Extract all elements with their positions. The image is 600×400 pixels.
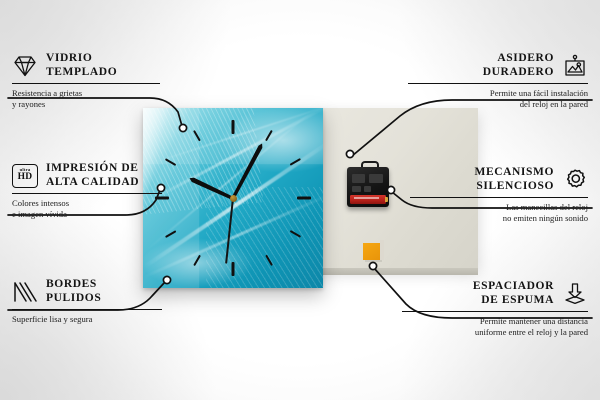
callout-title-line2: PULIDOS [46, 292, 101, 304]
callout-divider [12, 83, 160, 84]
callout-desc-line1: Resistencia a grietas [12, 88, 82, 98]
hd-badge-bottom-text: HD [18, 173, 33, 183]
callout-title-line2: DE ESPUMA [481, 294, 554, 306]
hanging-frame-icon [562, 53, 588, 79]
callout-desc-line2: e imagen vívida [12, 209, 67, 219]
callout-desc-line1: Permite mantener una distancia [480, 316, 588, 326]
callout-desc-line2: y rayones [12, 99, 45, 109]
callout-divider [12, 309, 162, 310]
callout-desc-line2: del reloj en la pared [520, 99, 588, 109]
foam-spacer-arrow-icon [562, 281, 588, 307]
connector-endpoint [163, 276, 170, 283]
callout-desc-line2: uniforme entre el reloj y la pared [475, 327, 588, 337]
gear-icon [562, 167, 588, 193]
callout-title-line1: ASIDERO [497, 52, 554, 64]
callout-divider [12, 193, 162, 194]
connector-endpoint [387, 186, 394, 193]
callout-title-line1: IMPRESIÓN DE [46, 162, 139, 174]
callout-divider [410, 197, 588, 198]
callout-title-line1: ESPACIADOR [473, 280, 554, 292]
callout-espaciador-de-espuma[interactable]: ESPACIADOR DE ESPUMA Permite mantener un… [402, 280, 588, 338]
diamond-icon [12, 53, 38, 79]
callout-desc-line1: Las manecillas del reloj [506, 202, 588, 212]
callout-desc-line1: Colores intensos [12, 198, 69, 208]
connector-endpoint [369, 262, 376, 269]
callout-desc-line1: Permite una fácil instalación [490, 88, 588, 98]
callout-title-line2: TEMPLADO [46, 66, 117, 78]
callout-title-line2: DURADERO [483, 66, 554, 78]
callout-vidrio-templado[interactable]: VIDRIO TEMPLADO Resistencia a grietas y … [12, 52, 160, 110]
callout-impresion-alta-calidad[interactable]: ultra HD IMPRESIÓN DE ALTA CALIDAD Color… [12, 162, 162, 220]
callout-desc-line1: Superficie lisa y segura [12, 314, 92, 324]
callout-title-line2: ALTA CALIDAD [46, 176, 139, 188]
callout-mecanismo-silencioso[interactable]: MECANISMO SILENCIOSO Las manecillas del … [410, 166, 588, 224]
callout-bordes-pulidos[interactable]: BORDES PULIDOS Superficie lisa y segura [12, 278, 162, 325]
connector-endpoint [179, 124, 186, 131]
callout-desc-line2: no emiten ningún sonido [503, 213, 588, 223]
connector-endpoint [346, 150, 353, 157]
callout-title-line1: BORDES [46, 278, 97, 290]
callout-divider [402, 311, 588, 312]
infographic-canvas: VIDRIO TEMPLADO Resistencia a grietas y … [0, 0, 600, 400]
ultra-hd-badge-icon: ultra HD [12, 163, 38, 189]
callout-divider [408, 83, 588, 84]
callout-title-line2: SILENCIOSO [476, 180, 554, 192]
callout-title-line1: MECANISMO [474, 166, 554, 178]
callout-asidero-duradero[interactable]: ASIDERO DURADERO Permite una fácil insta… [408, 52, 588, 110]
polished-edges-icon [12, 279, 38, 305]
callout-title-line1: VIDRIO [46, 52, 92, 64]
